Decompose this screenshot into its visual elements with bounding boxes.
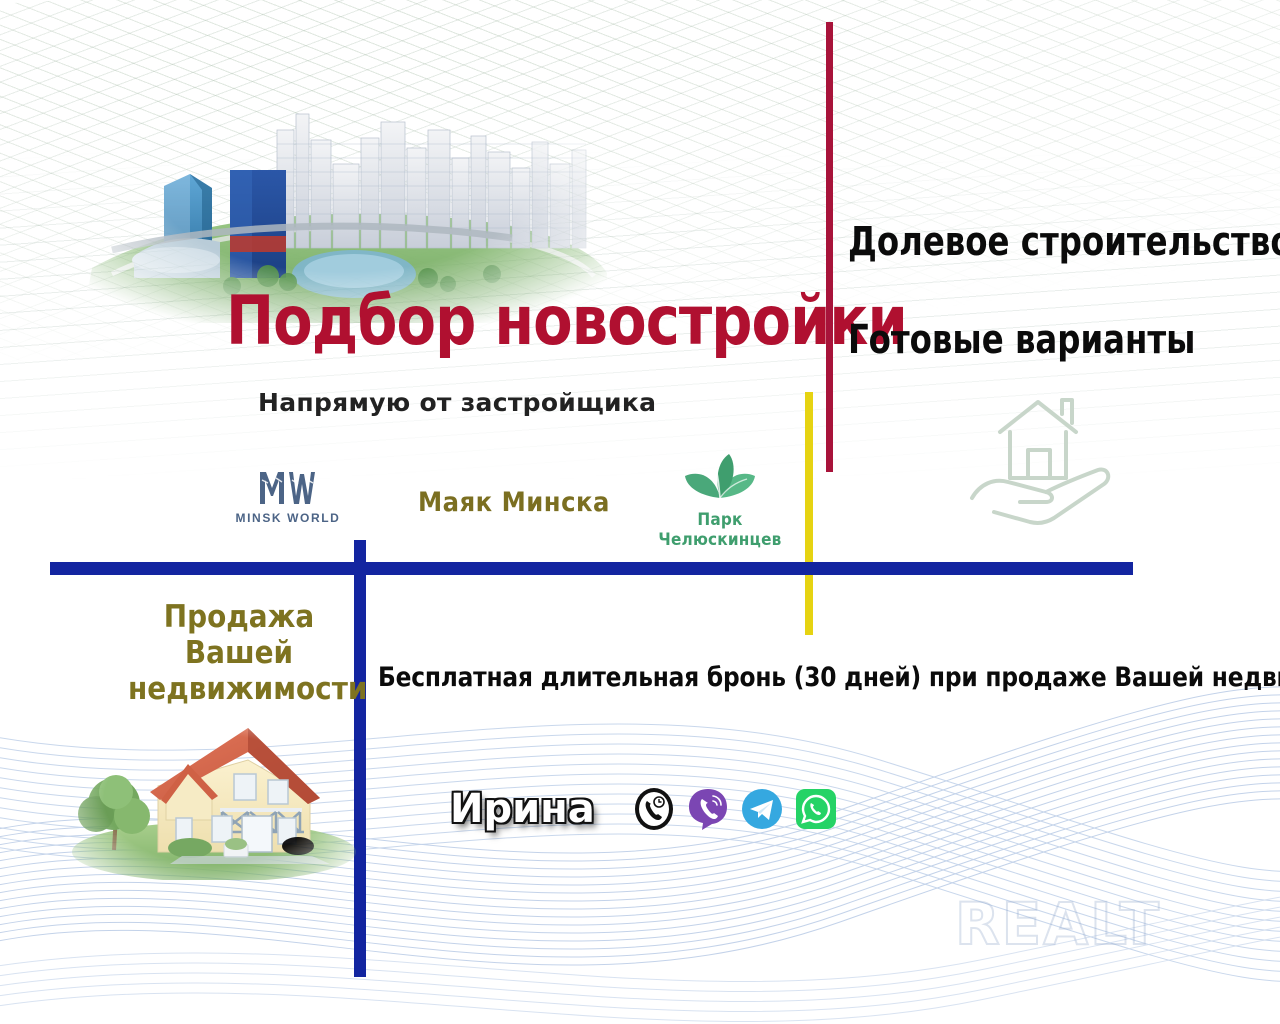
crimson-vertical-rule	[826, 22, 833, 472]
offer-line-shared-construction: Долевое строительство	[848, 222, 1280, 262]
offer-line-ready-options: Готовые варианты	[848, 320, 1195, 360]
page-subtitle: Напрямую от застройщика	[258, 388, 656, 417]
agent-name: Ирина	[450, 786, 595, 832]
telegram-icon[interactable]	[740, 787, 784, 831]
partner-name-minsk-world: MINSK WORLD	[228, 511, 348, 525]
phone-icon[interactable]	[632, 787, 676, 831]
contact-icons-row	[632, 787, 838, 831]
promo-free-reservation-text: Бесплатная длительная бронь (30 дней) пр…	[378, 662, 1280, 693]
hand-holding-house-icon	[958, 392, 1118, 532]
sell-property-title-line1: Продажа Вашей	[164, 599, 314, 671]
blue-horizontal-rule	[50, 562, 1133, 575]
yellow-vertical-rule	[805, 392, 813, 635]
cottage-house-photo	[62, 700, 362, 880]
mw-monogram-icon	[256, 466, 320, 508]
advertisement-banner: Подбор новостройки Напрямую от застройщи…	[0, 0, 1280, 1024]
page-title: Подбор новостройки	[226, 288, 907, 356]
partner-name-park-chelyuskintsev: Парк Челюскинцев	[640, 510, 800, 550]
viber-icon[interactable]	[686, 787, 730, 831]
sell-property-title: Продажа Вашей недвижимости	[128, 600, 350, 708]
realt-watermark: REALT	[955, 890, 1161, 958]
whatsapp-icon[interactable]	[794, 787, 838, 831]
partner-logo-park-chelyuskintsev: Парк Челюскинцев	[640, 452, 800, 550]
partner-logo-minsk-world: MINSK WORLD	[228, 466, 348, 525]
partner-logo-mayak-minska: Маяк Минска	[418, 487, 610, 518]
green-leaves-icon	[679, 452, 761, 508]
